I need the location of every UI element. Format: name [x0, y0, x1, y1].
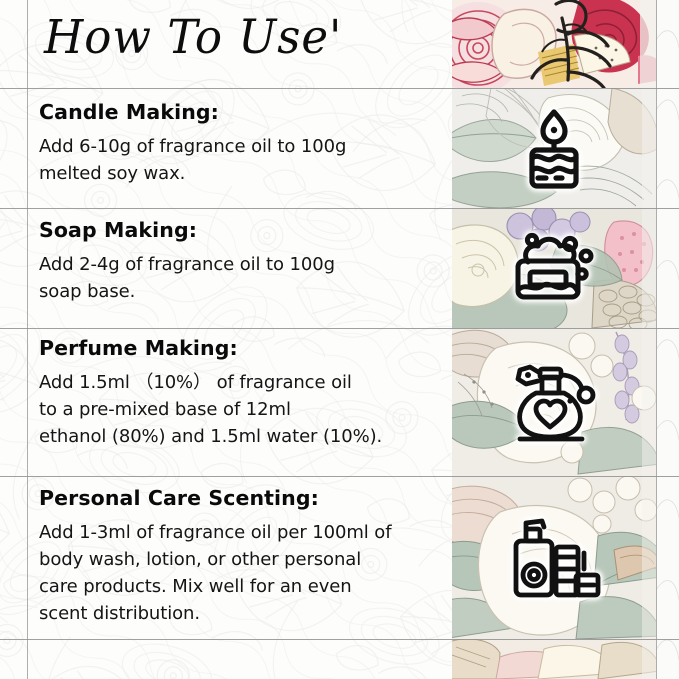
section-heading: Personal Care Scenting:	[39, 486, 439, 510]
page-title: How To Use'	[44, 10, 342, 65]
section-personal-care-scenting: Personal Care Scenting: Add 1-3ml of fra…	[39, 486, 439, 627]
section-body: Add 2-4g of fragrance oil to 100g soap b…	[39, 251, 439, 305]
section-body: Add 1-3ml of fragrance oil per 100ml of …	[39, 519, 439, 627]
section-body: Add 6-10g of fragrance oil to 100g melte…	[39, 133, 439, 187]
section-perfume-making: Perfume Making: Add 1.5ml （10%） of fragr…	[39, 336, 439, 450]
section-candle-making: Candle Making: Add 6-10g of fragrance oi…	[39, 100, 439, 187]
body-line: ethanol (80%) and 1.5ml water (10%).	[39, 423, 439, 450]
body-line: to a pre-mixed base of 12ml	[39, 396, 439, 423]
body-line: Add 1-3ml of fragrance oil per 100ml of	[39, 519, 439, 546]
section-heading: Candle Making:	[39, 100, 439, 124]
body-line: Add 1.5ml （10%） of fragrance oil	[39, 369, 439, 396]
care-photo-band	[452, 476, 656, 639]
divider-rule-2	[0, 208, 679, 209]
body-line: Add 2-4g of fragrance oil to 100g	[39, 251, 439, 278]
divider-rule-3	[0, 328, 679, 329]
footer-photo-band	[452, 639, 656, 679]
body-line: scent distribution.	[39, 600, 439, 627]
section-heading: Soap Making:	[39, 218, 439, 242]
body-line: soap base.	[39, 278, 439, 305]
candle-photo-band	[452, 88, 656, 208]
section-body: Add 1.5ml （10%） of fragrance oil to a pr…	[39, 369, 439, 450]
rose-photo-band	[452, 0, 656, 88]
section-soap-making: Soap Making: Add 2-4g of fragrance oil t…	[39, 218, 439, 305]
section-heading: Perfume Making:	[39, 336, 439, 360]
right-margin-sliver	[656, 0, 679, 679]
body-line: care products. Mix well for an even	[39, 573, 439, 600]
divider-rule-1	[0, 88, 679, 89]
left-vertical-rule	[27, 0, 28, 679]
divider-rule-4	[0, 476, 679, 477]
botanical-photo-column	[452, 0, 656, 679]
right-vertical-rule	[656, 0, 657, 679]
divider-rule-5	[0, 639, 679, 640]
body-line: melted soy wax.	[39, 160, 439, 187]
body-line: body wash, lotion, or other personal	[39, 546, 439, 573]
soap-photo-band	[452, 208, 656, 328]
body-line: Add 6-10g of fragrance oil to 100g	[39, 133, 439, 160]
perfume-photo-band	[452, 328, 656, 476]
how-to-use-infographic: How To Use' Candle Making: Add 6-10g of …	[0, 0, 679, 679]
